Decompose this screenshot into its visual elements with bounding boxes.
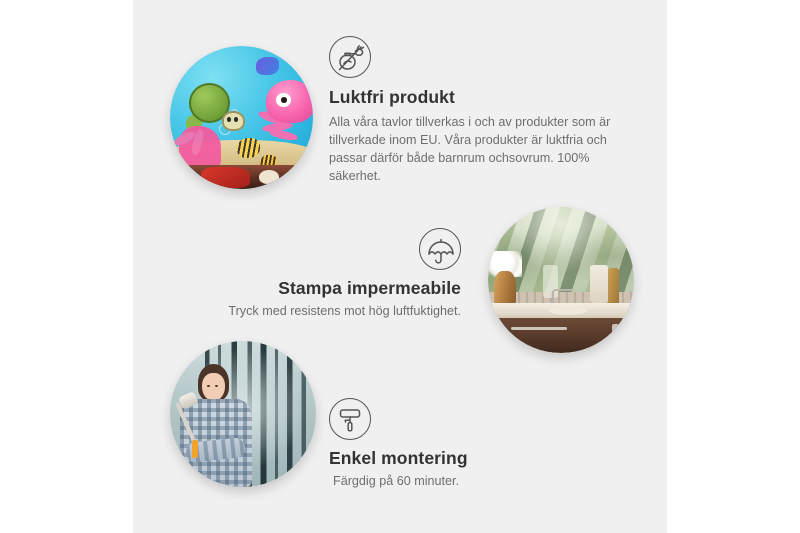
bathroom-photo-inner (488, 207, 634, 353)
umbrella-icon (419, 228, 461, 270)
woman-figure (179, 364, 255, 487)
sea-foreground-strip (170, 165, 313, 189)
feature-odourless-body: Alla våra tavlor tillverkas i och av pro… (329, 113, 631, 186)
underwater-cartoon-photo (170, 46, 313, 189)
feature-assembly-title: Enkel montering (329, 448, 579, 469)
feature-assembly: Enkel montering Färgdig på 60 minuter. (329, 398, 579, 490)
soap-bottle-shape (608, 268, 620, 306)
feature-waterproof: Stampa impermeabile Tryck med resistens … (211, 228, 461, 320)
octopus-head (266, 80, 313, 123)
coral-shape (179, 126, 222, 169)
yellow-fish-shape (237, 138, 260, 158)
paint-roller-icon (329, 398, 371, 440)
forest-photo-inner (170, 341, 316, 487)
underwater-photo-inner (170, 46, 313, 189)
towel-shape (590, 265, 608, 303)
screenshot-stage: Luktfri produkt Alla våra tavlor tillver… (0, 0, 800, 533)
octopus-arm (269, 128, 299, 142)
turtle-shape (186, 83, 243, 132)
bathroom-wallpaper-photo (488, 207, 634, 353)
feature-waterproof-body: Tryck med resistens mot hög luftfuktighe… (211, 302, 461, 320)
woman-face (202, 373, 225, 401)
turtle-head (222, 111, 245, 130)
wooden-cabinet-shape (497, 318, 634, 353)
feature-odourless-title: Luktfri produkt (329, 87, 631, 108)
paint-roller-grip (192, 440, 197, 457)
feature-waterproof-title: Stampa impermeabile (211, 278, 461, 299)
octopus-eye (276, 93, 291, 107)
octopus-shape (257, 80, 313, 149)
feature-odourless: Luktfri produkt Alla våra tavlor tillver… (329, 36, 631, 186)
feature-assembly-body: Färgdig på 60 minuter. (329, 472, 579, 490)
blue-fish-shape (256, 57, 279, 74)
content-panel: Luktfri produkt Alla våra tavlor tillver… (133, 0, 667, 533)
installer-forest-photo (170, 341, 316, 487)
no-fragrance-icon (329, 36, 371, 78)
